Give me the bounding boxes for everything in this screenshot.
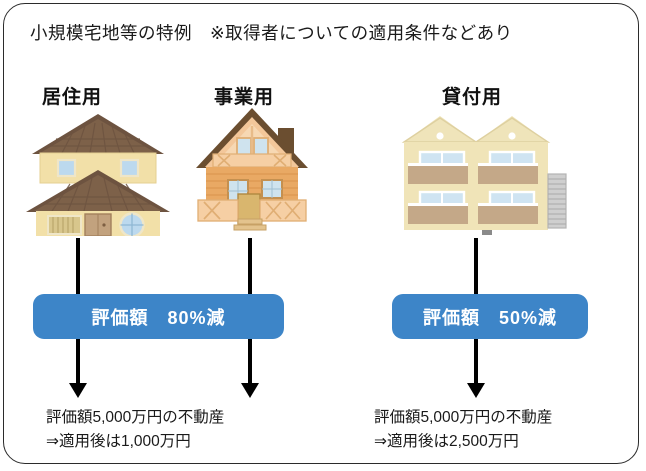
diagram-canvas: 小規模宅地等の特例 ※取得者についての適用条件などあり 居住用 事業用 貸付用 bbox=[0, 0, 646, 471]
result-right-line1: 評価額5,000万円の不動産 bbox=[374, 406, 552, 430]
arrow-shaft-banner-to-result-left-a bbox=[76, 339, 80, 384]
reduction-banner-50-label: 評価額 50%減 bbox=[423, 304, 557, 330]
arrow-shaft-banner-to-result-left-b bbox=[248, 339, 252, 384]
result-left-line2: ⇒適用後は1,000万円 bbox=[46, 430, 224, 454]
arrow-shaft-rental-to-banner bbox=[474, 238, 478, 296]
reduction-banner-50: 評価額 50%減 bbox=[392, 294, 588, 339]
category-label-residential: 居住用 bbox=[42, 82, 102, 109]
reduction-banner-80-label: 評価額 80%減 bbox=[91, 304, 225, 330]
apartment-building-icon bbox=[398, 108, 570, 236]
reduction-banner-80: 評価額 80%減 bbox=[33, 294, 284, 339]
arrow-shaft-residential-to-banner bbox=[76, 238, 80, 296]
arrow-shaft-banner-to-result-right bbox=[474, 339, 478, 384]
arrow-head-banner-to-result-left-b bbox=[241, 383, 259, 398]
log-cabin-icon bbox=[182, 104, 322, 236]
arrow-head-banner-to-result-right bbox=[467, 383, 485, 398]
arrow-head-banner-to-result-left-a bbox=[69, 383, 87, 398]
result-left-line1: 評価額5,000万円の不動産 bbox=[46, 406, 224, 430]
house-icon bbox=[22, 108, 174, 236]
category-label-rental: 貸付用 bbox=[442, 82, 502, 109]
page-title: 小規模宅地等の特例 ※取得者についての適用条件などあり bbox=[30, 20, 513, 45]
result-text-rental: 評価額5,000万円の不動産 ⇒適用後は2,500万円 bbox=[374, 406, 552, 454]
result-text-residential-business: 評価額5,000万円の不動産 ⇒適用後は1,000万円 bbox=[46, 406, 224, 454]
result-right-line2: ⇒適用後は2,500万円 bbox=[374, 430, 552, 454]
arrow-shaft-business-to-banner bbox=[248, 238, 252, 296]
